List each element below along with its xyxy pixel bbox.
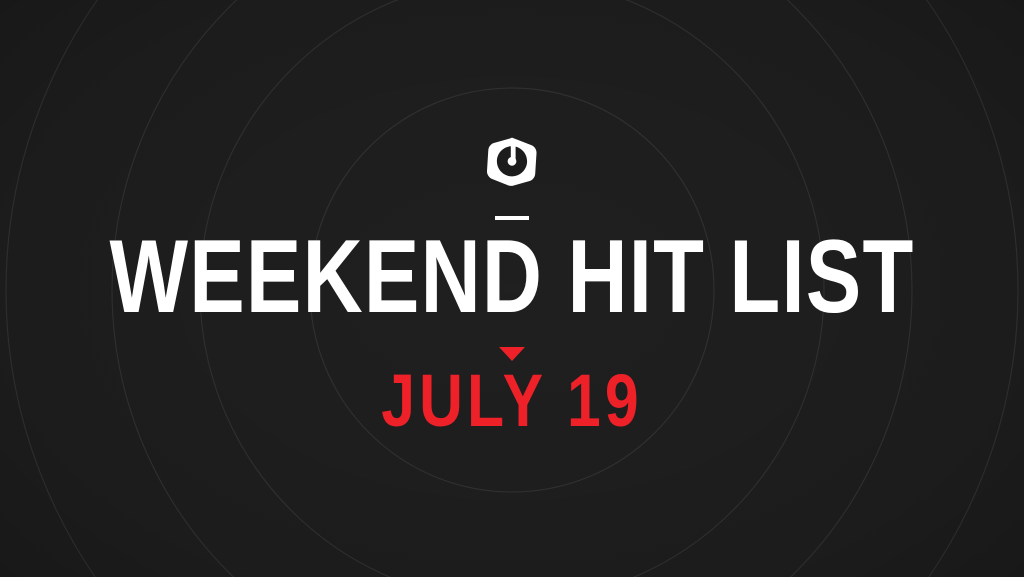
content-column: WEEKEND HIT LIST JULY 19: [0, 0, 1024, 577]
beats-record-logo-icon: [484, 136, 540, 192]
page-title: WEEKEND HIT LIST: [102, 225, 921, 329]
promo-graphic: WEEKEND HIT LIST JULY 19: [0, 0, 1024, 577]
date-label: JULY 19: [92, 364, 932, 438]
